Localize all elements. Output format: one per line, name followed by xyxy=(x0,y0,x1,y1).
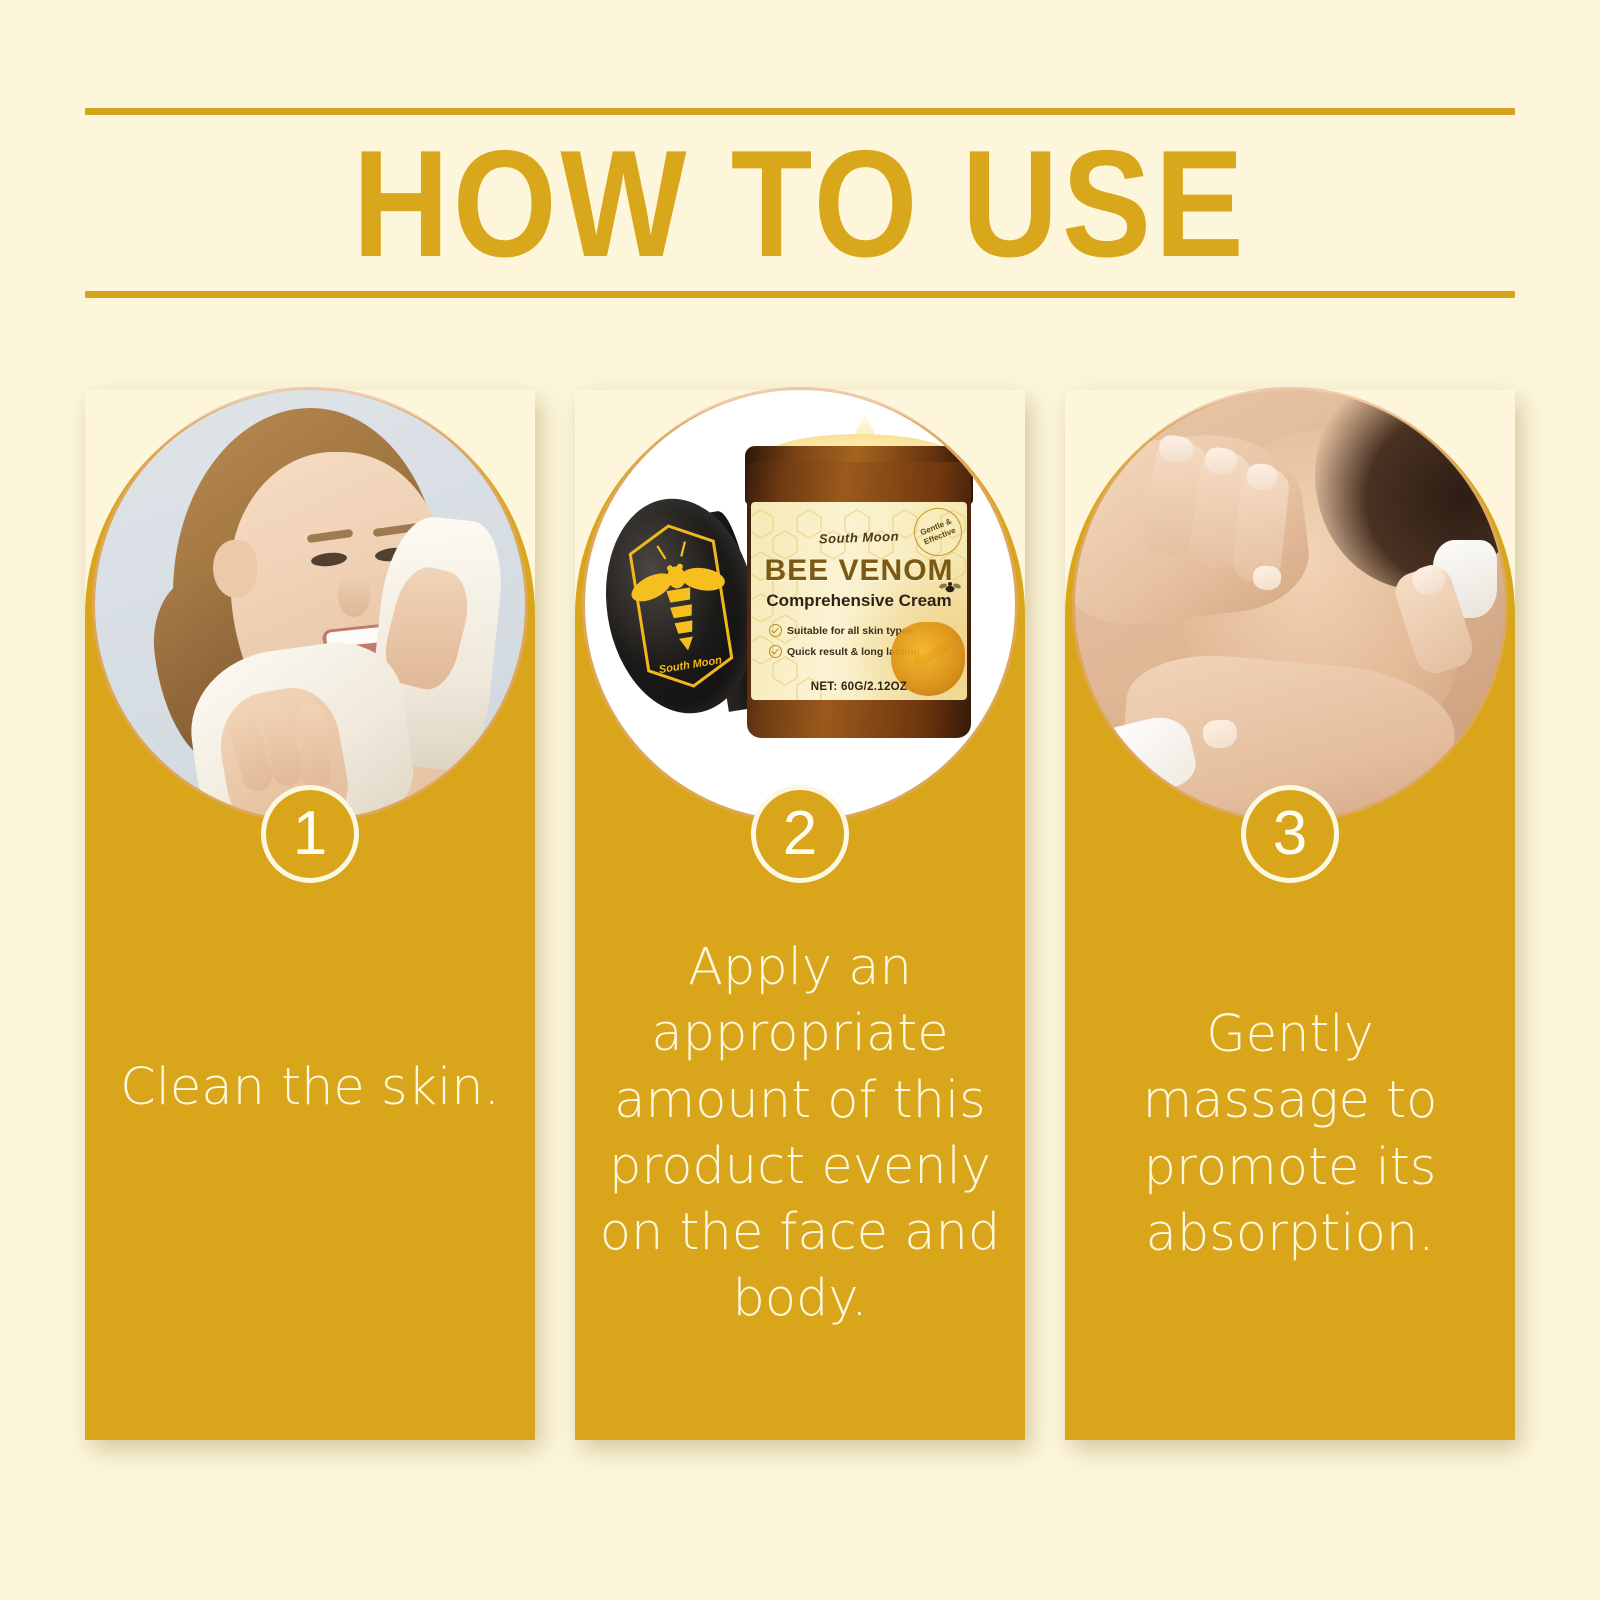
step-card-1: 1 Clean the skin. xyxy=(85,390,535,1445)
steps-container: 1 Clean the skin. xyxy=(0,0,1600,1600)
product-name: BEE VENOM xyxy=(751,554,967,588)
photo-1-ear xyxy=(213,540,257,598)
photo-2-scene: South Moon xyxy=(585,390,1015,820)
step-caption-1: Clean the skin. xyxy=(105,1055,515,1121)
step-number-badge-2: 2 xyxy=(751,785,849,883)
step-photo-3 xyxy=(1075,390,1505,820)
step-photo-1 xyxy=(95,390,525,820)
photo-1-scene xyxy=(95,390,525,820)
step-photo-2: South Moon xyxy=(585,390,1015,820)
step-number-badge-3: 3 xyxy=(1241,785,1339,883)
check-circle-icon xyxy=(769,624,782,637)
step-number-badge-1: 1 xyxy=(261,785,359,883)
step-card-3: 3 Gently massage to promote its absorpti… xyxy=(1065,390,1515,1445)
step-caption-3: Gently massage to promote its absorption… xyxy=(1085,1002,1495,1267)
check-circle-icon xyxy=(769,645,782,658)
bee-logo-icon: South Moon xyxy=(620,515,741,698)
step-caption-2: Apply an appropriate amount of this prod… xyxy=(595,935,1005,1333)
step-card-2: South Moon xyxy=(575,390,1025,1445)
product-bullet-1-text: Suitable for all skin types xyxy=(787,625,914,637)
product-net-weight: NET: 60G/2.12OZ xyxy=(751,681,967,693)
photo-1-nose xyxy=(338,575,370,617)
product-label: South Moon BEE VENOM Comprehensive Cream… xyxy=(751,502,967,700)
photo-3-scene xyxy=(1075,390,1505,820)
bee-icon xyxy=(939,580,961,596)
photo-1-finger-3 xyxy=(296,703,332,789)
product-subtitle: Comprehensive Cream xyxy=(751,591,967,611)
